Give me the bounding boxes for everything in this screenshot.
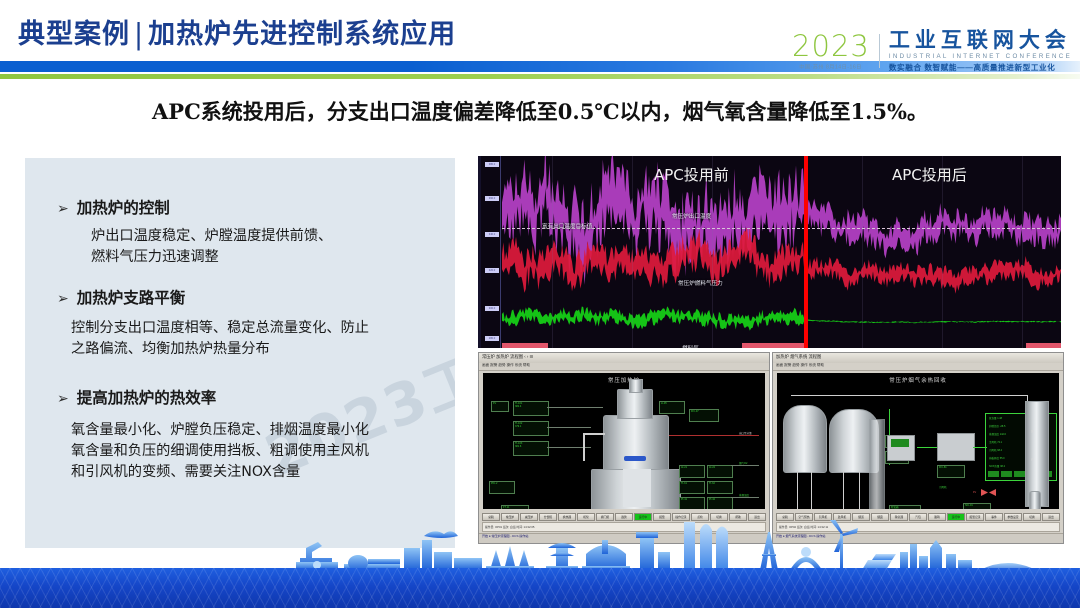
logo-tagline: 数实融合 数智赋能——高质量推进新型工业化 — [889, 62, 1072, 73]
axis-value-1: 360.0 — [485, 196, 499, 201]
bullet-heading-2-text: 加热炉支路平衡 — [77, 286, 186, 308]
bullet-body-1: 炉出口温度稳定、炉膛温度提供前馈、 燃料气压力迅速调整 — [91, 226, 332, 268]
dcs-left-menubar[interactable]: 画面 报警 趋势 操作 系统 帮助 — [479, 363, 769, 371]
logo-text-block: 工业互联网大会 INDUSTRIAL INTERNET CONFERENCE 数… — [889, 29, 1072, 73]
city-skyline-graphic — [0, 520, 1080, 572]
dcs-screenshot-fluegas[interactable]: 加热炉 烟气系统 流程图 画面 报警 趋势 操作 系统 帮助 常压炉烟气余热回收… — [772, 352, 1064, 544]
logo-divider — [879, 34, 880, 68]
dcs-screenshot-furnace[interactable]: 常压炉 加热炉 流程图 ‹ › ☰ 画面 报警 趋势 操作 系统 帮助 常压加热… — [478, 352, 770, 544]
axis-value-5: 280.0 — [485, 336, 499, 341]
bullet-body-2: 控制分支出口温度相等、稳定总流量变化、防止 之路偏流、均衡加热炉热量分布 — [71, 318, 369, 360]
chart-label-fuel: 燃料气 — [682, 344, 699, 348]
bullet-heading-3-text: 提高加热炉的热效率 — [77, 386, 217, 408]
axis-value-4: 300.0 — [485, 306, 499, 311]
chart-label-target: 富有出口温度目标值 — [542, 222, 592, 230]
bullet-arrow-icon: ➢ — [57, 202, 69, 216]
chart-title-after: APC投用后 — [892, 164, 967, 185]
dcs-right-titlebar: 加热炉 烟气系统 流程图 — [773, 353, 1063, 363]
logo-year: 2023 — [792, 32, 870, 61]
axis-value-2: 340.0 — [485, 232, 499, 237]
header-rule-green — [0, 74, 1080, 79]
dcs-left-canvas: 常压加热炉 TI-101382.4 TI-102379.1 TI-103381.… — [483, 373, 765, 509]
dcs-right-menubar[interactable]: 画面 报警 趋势 操作 系统 帮助 — [773, 363, 1063, 371]
bullet-heading-1: ➢ 加热炉的控制 — [57, 196, 332, 218]
bullet-group-3: ➢ 提高加热炉的热效率 氧含量最小化、炉膛负压稳定、排烟温度最小化 氧含量和负压… — [57, 386, 369, 483]
dcs-left-titlebar: 常压炉 加热炉 流程图 ‹ › ☰ — [479, 353, 769, 363]
bullet-heading-2: ➢ 加热炉支路平衡 — [57, 286, 369, 308]
page-title-sub: 加热炉先进控制系统应用 — [148, 19, 456, 50]
apc-switch-marker — [804, 156, 808, 348]
axis-value-3: 320.0 — [485, 268, 499, 273]
bullet-panel: 2023工 ➢ 加热炉的控制 炉出口温度稳定、炉膛温度提供前馈、 燃料气压力迅速… — [25, 158, 455, 548]
conference-logo: 2023 中国·苏州 8月14日-16日 工业互联网大会 INDUSTRIAL … — [792, 28, 1072, 74]
chart-plot-area: 富有出口温度目标值 常压炉出口温度 常压炉燃料气压力 燃料气 APC投用前 AP… — [502, 156, 1061, 348]
logo-conference-en: INDUSTRIAL INTERNET CONFERENCE — [889, 53, 1072, 60]
logo-conference-cn: 工业互联网大会 — [889, 29, 1072, 51]
page-title-main: 典型案例 — [18, 19, 130, 50]
bullet-arrow-icon: ➢ — [57, 392, 69, 406]
dcs-right-caption: 常压炉烟气余热回收 — [777, 376, 1059, 384]
trend-chart: 380.0 360.0 340.0 320.0 300.0 280.0 富有出口… — [478, 156, 1061, 348]
chart-label-outlet: 常压炉出口温度 — [672, 212, 711, 220]
bullet-group-2: ➢ 加热炉支路平衡 控制分支出口温度相等、稳定总流量变化、防止 之路偏流、均衡加… — [57, 286, 369, 360]
chart-series-svg — [502, 156, 1061, 348]
dcs-left-caption: 常压加热炉 — [483, 376, 765, 384]
bullet-heading-3: ➢ 提高加热炉的热效率 — [57, 386, 369, 408]
bullet-arrow-icon: ➢ — [57, 292, 69, 306]
logo-date-line: 中国·苏州 8月14日-16日 — [800, 64, 863, 71]
bullet-heading-1-text: 加热炉的控制 — [77, 196, 170, 218]
slide-subtitle: APC系统投用后，分支出口温度偏差降低至0.5℃以内，烟气氧含量降低至1.5%。 — [0, 96, 1080, 126]
page-title: 典型案例|加热炉先进控制系统应用 — [18, 12, 456, 51]
footer-banner — [0, 520, 1080, 608]
logo-year-block: 2023 中国·苏州 8月14日-16日 — [792, 32, 879, 70]
page-title-separator: | — [130, 18, 148, 51]
axis-value-0: 380.0 — [485, 162, 499, 167]
chart-title-before: APC投用前 — [654, 164, 729, 185]
dcs-right-canvas: 常压炉烟气余热回收 TI-71 PI-72 氧含量 1.48 炉膛负压 -28.… — [777, 373, 1059, 509]
bullet-group-1: ➢ 加热炉的控制 炉出口温度稳定、炉膛温度提供前馈、 燃料气压力迅速调整 — [57, 196, 332, 268]
wave-graphic — [0, 568, 1080, 608]
chart-label-furnace: 常压炉燃料气压力 — [678, 279, 723, 287]
slide-header: 典型案例|加热炉先进控制系统应用 2023 中国·苏州 8月14日-16日 工业… — [0, 0, 1080, 84]
bullet-body-3: 氧含量最小化、炉膛负压稳定、排烟温度最小化 氧含量和负压的细调使用挡板、粗调使用… — [71, 420, 369, 483]
chart-axis-rail — [500, 156, 501, 348]
